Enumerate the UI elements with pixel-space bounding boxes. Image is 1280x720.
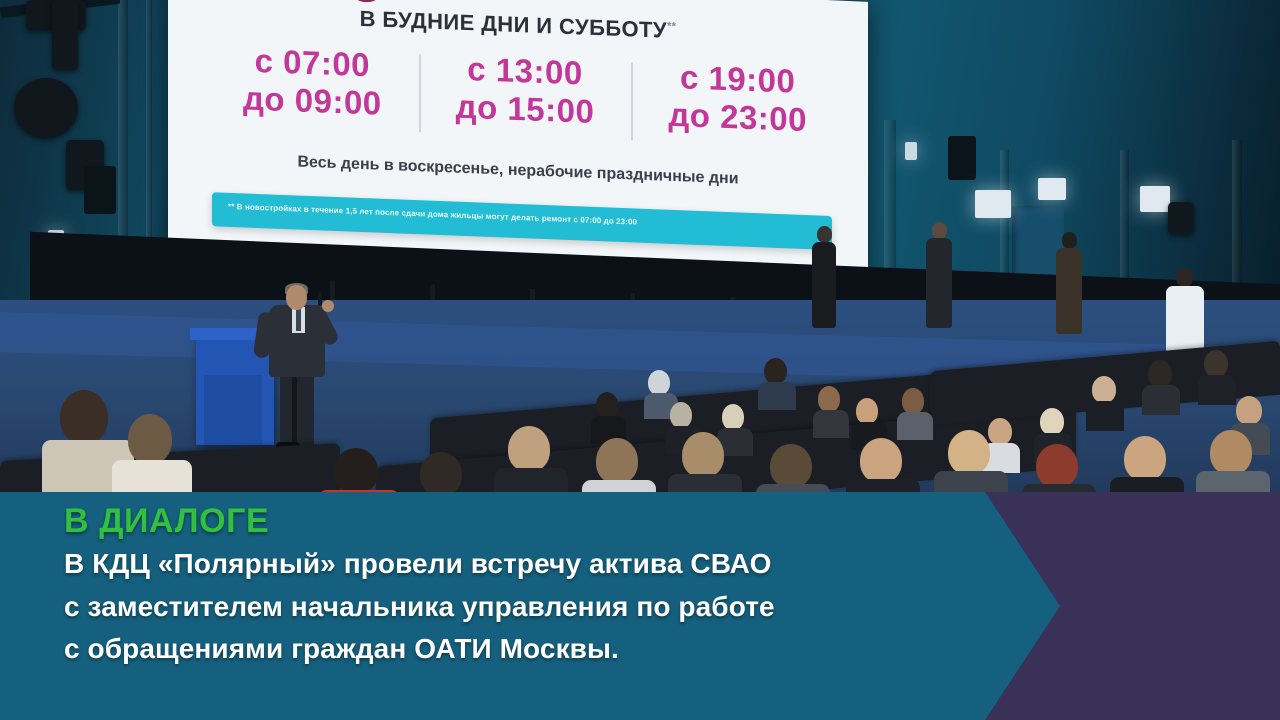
standing-attendee — [812, 226, 836, 326]
wall-speaker — [84, 166, 116, 214]
auditorium-photo: работ по перепланировке В БУДНИЕ ДНИ И С… — [0, 0, 1280, 500]
slide-footnote-text: ** В новостройках в течение 1,5 лет посл… — [228, 202, 822, 234]
slide-time-blocks: с 07:00 до 09:00 с 13:00 до 15:00 с 19:0… — [206, 40, 844, 141]
slide-title-text: В БУДНИЕ ДНИ И СУББОТУ — [360, 6, 667, 43]
microphone — [318, 292, 322, 306]
slide-footnote-bar: ** В новостройках в течение 1,5 лет посл… — [212, 192, 832, 250]
standing-attendee — [1056, 232, 1082, 332]
caption-block: В ДИАЛОГЕ В КДЦ «Полярный» провели встре… — [64, 502, 964, 671]
screenshot-root: работ по перепланировке В БУДНИЕ ДНИ И С… — [0, 0, 1280, 720]
standing-attendee — [926, 222, 952, 326]
clock-icon — [346, 0, 386, 3]
time-to: до 09:00 — [206, 78, 419, 124]
audience-member — [902, 388, 928, 432]
slide-title-footnote-marker: ** — [667, 20, 676, 32]
panel-light — [1038, 178, 1066, 200]
speaker-legs — [280, 372, 314, 446]
speaker-hand — [322, 300, 334, 312]
standing-attendee — [1166, 268, 1204, 354]
stage-light-fixture — [52, 0, 78, 70]
time-block: с 07:00 до 09:00 — [206, 40, 419, 125]
audience-member — [1092, 376, 1120, 422]
caption-line: с обращениями граждан ОАТИ Москвы. — [64, 628, 964, 671]
caption-line: с заместителем начальника управления по … — [64, 586, 964, 629]
stage-light-fixture — [14, 78, 78, 138]
wall-speaker — [948, 136, 976, 180]
time-block: с 19:00 до 23:00 — [631, 56, 844, 141]
speaker-head — [286, 285, 307, 310]
panel-light — [975, 190, 1011, 218]
caption-kicker: В ДИАЛОГЕ — [64, 502, 964, 541]
audience-member — [128, 414, 178, 500]
speaker-tie — [296, 309, 301, 331]
time-to: до 23:00 — [631, 95, 844, 141]
time-block: с 13:00 до 15:00 — [419, 48, 632, 133]
audience-member — [60, 390, 116, 490]
slide-note: Весь день в воскресенье, нерабочие празд… — [168, 149, 868, 194]
caption-line: В КДЦ «Полярный» провели встречу актива … — [64, 543, 964, 586]
audience-member — [860, 438, 908, 500]
audience-member — [856, 398, 882, 442]
audience-member — [596, 392, 622, 436]
audience-member — [1124, 436, 1172, 500]
audience-member — [948, 430, 996, 496]
audience-member — [818, 386, 844, 430]
stage-light-fixture — [1168, 202, 1194, 234]
audience-member — [508, 426, 556, 496]
audience-member — [1148, 360, 1176, 406]
audience-member — [1210, 430, 1258, 496]
time-to: до 15:00 — [419, 86, 632, 132]
panel-light — [1140, 186, 1170, 212]
audience-member — [596, 438, 644, 500]
panel-light — [905, 142, 917, 160]
lower-third-banner: В ДИАЛОГЕ В КДЦ «Полярный» провели встре… — [0, 492, 1280, 720]
audience-member — [682, 432, 730, 500]
audience-member — [1204, 350, 1232, 396]
audience-member — [764, 358, 792, 402]
